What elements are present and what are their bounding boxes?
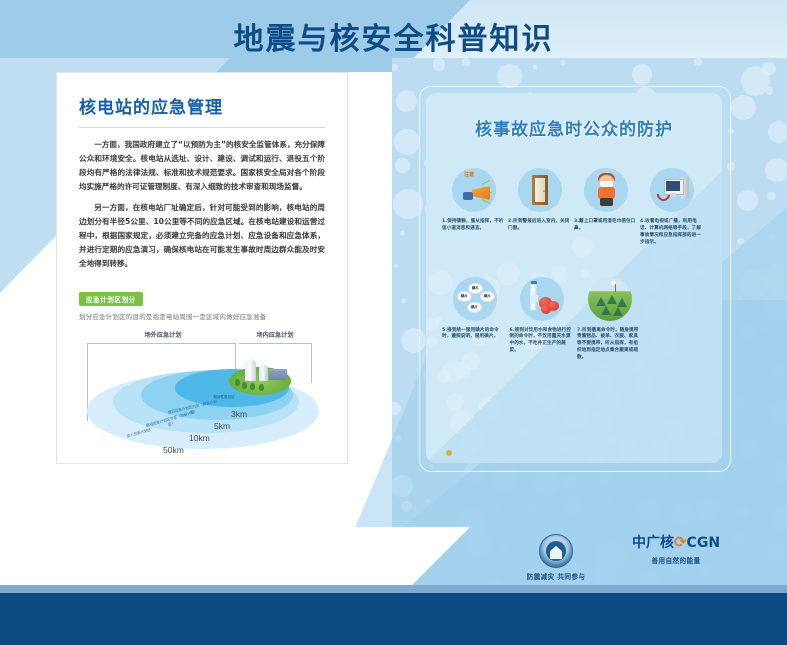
bracket-tick-right [311, 343, 312, 383]
section-badge: 应急计划区划分 [79, 292, 143, 306]
decorative-bubble [394, 264, 398, 268]
sound-ray-icon [482, 199, 491, 204]
tent-icon [596, 297, 606, 306]
tree-icon [235, 379, 240, 386]
protection-item-5: 碘片 碘片 碘片 碘片 5.接到统一服用碘片的命令时，遵照说明，服用碘片。 [442, 277, 508, 362]
decorative-bubble [731, 95, 756, 120]
decorative-bubble [762, 62, 775, 75]
protection-item-2: 2.听到警报后进入室内，关闭门窗。 [508, 168, 572, 247]
tent-icon [613, 307, 623, 316]
bracket-label-onsite: 场内应急计划 [243, 330, 307, 339]
cgn-swirl-icon: ⟳ [674, 533, 687, 551]
bracket-label-offsite: 场外应急计划 [117, 330, 209, 339]
protection-caption-3: 3.戴上口罩或用湿毛巾捂住口鼻。 [574, 219, 638, 233]
seismic-seal-icon [539, 534, 573, 568]
reactor-dome-2-icon [259, 365, 268, 381]
cgn-wordmark: 中广核⟳CGN [612, 534, 740, 551]
door-icon [518, 168, 562, 212]
evacuation-tents-icon [588, 277, 632, 321]
bracket-line-onsite [239, 343, 311, 344]
poster-canvas: 地震与核安全科普知识 核电站的应急管理 一方面，我国政府建立了“以预防为主”的核… [0, 0, 787, 645]
bracket-line-offsite [87, 343, 235, 344]
pill-icon: 碘片 [480, 291, 495, 302]
right-panel-title: 核事故应急时公众的防护 [426, 115, 722, 140]
sound-ray-icon [482, 180, 491, 185]
pill-icon: 碘片 [467, 302, 482, 313]
section-subtitle: 划分应急计划区的目的是指定电站周围一定区域内做好应急准备 [79, 312, 325, 321]
decorative-bubble [561, 60, 565, 64]
left-content-card: 核电站的应急管理 一方面，我国政府建立了“以预防为主”的核安全监管体系，充分保障… [56, 72, 348, 464]
decorative-bubble [766, 87, 773, 94]
protection-caption-4: 4.收看电视或广播，利用电话、计算机网络等手段，了解事故情况和应急指挥部的进一步… [640, 219, 704, 247]
decorative-bubble [737, 238, 744, 245]
decorative-bubble [737, 190, 759, 212]
protection-item-6: 6.接到对饮用水和食物进行控制的命令时，不饮用露天水源中的水，不吃井正生产的蔬菜… [510, 277, 576, 362]
tv-computer-icon [650, 168, 694, 212]
pill-icon: 碘片 [468, 283, 483, 294]
megaphone-horn [472, 186, 490, 200]
page-title: 地震与核安全科普知识 [0, 14, 787, 58]
monitor-stand [670, 193, 676, 197]
decorative-bubble [401, 298, 406, 303]
decorative-bubble [765, 158, 787, 182]
plant-building-icon [269, 369, 287, 380]
protection-caption-1: 1.保持镇静，服从指挥，不听信小道消息和谣言。 [442, 219, 506, 233]
accent-dot [446, 450, 452, 456]
protection-caption-6: 6.接到对饮用水和食物进行控制的命令时，不饮用露天水源中的水，不吃井正生产的蔬菜… [510, 328, 576, 356]
tree-icon [250, 383, 255, 390]
child-legs [600, 198, 613, 206]
decorative-bubble [632, 64, 653, 85]
tree-icon [242, 382, 247, 389]
decorative-bubble [433, 58, 445, 70]
megaphone-body [463, 192, 473, 200]
megaphone-icon: 注意 [452, 168, 496, 212]
tent-icon [617, 298, 627, 307]
megaphone-attention-text: 注意 [464, 173, 474, 179]
right-content-card: 核事故应急时公众的防护 注意 1.保持镇静，服从指挥，不听信小道消息和谣言。 [426, 93, 722, 463]
protection-item-4: 4.收看电视或广播，利用电话、计算机网络等手段，了解事故情况和应急指挥部的进一步… [640, 168, 704, 247]
tree-icon [259, 384, 264, 391]
decorative-bubble [400, 231, 405, 236]
decorative-bubble [767, 192, 776, 201]
protection-caption-5: 5.接到统一服用碘片的命令时，遵照说明，服用碘片。 [442, 328, 508, 342]
left-panel-title: 核电站的应急管理 [79, 93, 325, 118]
bottle-label [530, 295, 538, 302]
diagram-brackets: 场外应急计划 场内应急计划 [79, 329, 327, 363]
reactor-dome-icon [245, 359, 256, 381]
zone-distance-5km: 5km [214, 421, 230, 431]
tomato-icon [541, 305, 551, 314]
protection-icon-grid: 注意 1.保持镇静，服从指挥，不听信小道消息和谣言。 [426, 168, 722, 362]
cgn-caption: 善用自然的能量 [612, 555, 740, 565]
protection-item-7: 7.听到撤离命令时，随身携带贵重物品、被单、衣服、家具等不要携带，听从指挥，有组… [577, 277, 704, 362]
decorative-bubble [497, 64, 521, 88]
decorative-bubble [395, 158, 410, 173]
seismic-caption: 防震减灾 共同参与 [500, 571, 612, 581]
decorative-bubble [394, 129, 420, 155]
decorative-bubble [396, 90, 417, 111]
bottom-light-bar [0, 585, 787, 593]
decorative-bubble [768, 121, 787, 143]
footer-logo-row: 防震减灾 共同参与 中广核⟳CGN 善用自然的能量 [500, 534, 740, 586]
left-paragraph-2: 另一方面，在核电站厂址确定后，针对可能受到的影响，核电站的周边划分有半径5公里、… [79, 201, 325, 271]
water-food-icon [520, 277, 564, 321]
iodine-pills-icon: 碘片 碘片 碘片 碘片 [453, 277, 497, 321]
bottom-navy-bar [0, 593, 787, 645]
decorative-bubble [442, 360, 464, 382]
cgn-logo-cn: 中广核 [632, 535, 674, 551]
flag-icon [611, 281, 616, 285]
zone-distance-10km: 10km [189, 433, 210, 443]
emergency-zone-diagram: 场外应急计划 场内应急计划 烟羽性急应区 烟羽应急计划区内区（撤离计划区） 烟羽… [79, 329, 327, 457]
tent-icon [607, 295, 617, 304]
zone-distance-3km: 3km [231, 409, 247, 419]
child-mask-icon [584, 168, 628, 212]
zone-distance-50km: 50km [163, 445, 184, 455]
protection-caption-7: 7.听到撤离命令时，随身携带贵重物品、被单、衣服、家具等不要携带，听从指挥，有组… [577, 328, 639, 362]
door-knob [543, 190, 545, 192]
protection-item-3: 3.戴上口罩或用湿毛巾捂住口鼻。 [574, 168, 638, 247]
decorative-bubble [694, 58, 702, 66]
title-divider [79, 127, 325, 128]
seismic-logo-block: 防震减灾 共同参与 [500, 534, 612, 581]
tent-icon [601, 306, 611, 315]
decorative-bubble [392, 402, 401, 415]
protection-item-1: 注意 1.保持镇静，服从指挥，不听信小道消息和谣言。 [442, 168, 506, 247]
decorative-bubble [462, 58, 470, 66]
decorative-bubble [447, 393, 464, 410]
decorative-bubble [533, 65, 537, 69]
decorative-bubble [392, 64, 398, 71]
left-paragraph-1: 一方面，我国政府建立了“以预防为主”的核安全监管体系，充分保障公众和环境安全。核… [79, 138, 325, 194]
cgn-logo-en: CGN [687, 535, 720, 551]
cgn-logo-block: 中广核⟳CGN 善用自然的能量 [612, 534, 740, 565]
zone-label-inner-1: 烟羽性急应区 [197, 395, 251, 400]
protection-caption-2: 2.听到警报后进入室内，关闭门窗。 [508, 219, 572, 233]
